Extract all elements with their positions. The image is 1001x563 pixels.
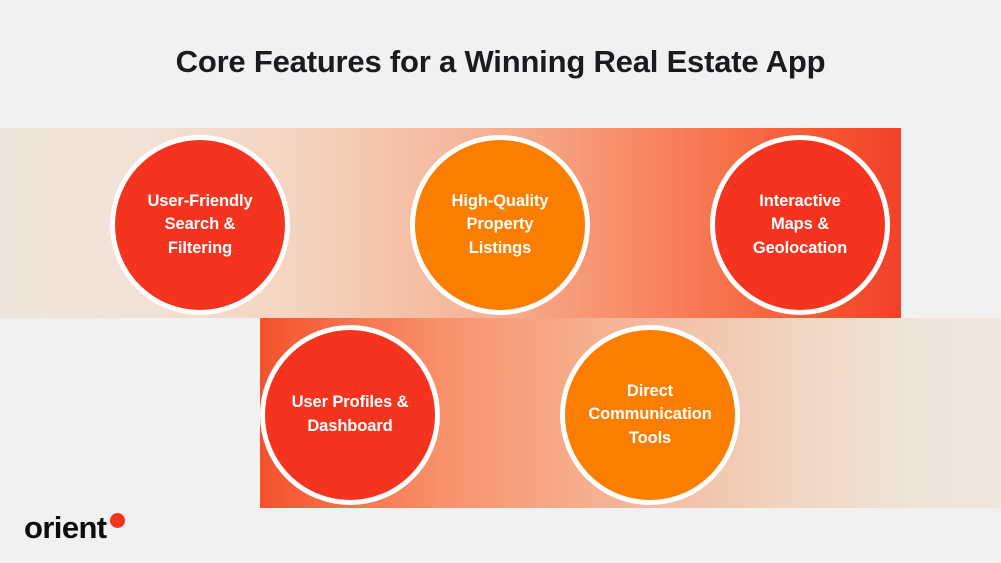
feature-circle-interactive-maps-geolocation[interactable]: Interactive Maps & Geolocation [710, 135, 890, 315]
page-title: Core Features for a Winning Real Estate … [0, 44, 1001, 80]
feature-circle-direct-communication-tools[interactable]: Direct Communication Tools [560, 325, 740, 505]
brand-wordmark: orient [24, 512, 107, 543]
brand-dot-icon [110, 513, 125, 528]
feature-circle-user-profiles-dashboard[interactable]: User Profiles & Dashboard [260, 325, 440, 505]
feature-label: Interactive Maps & Geolocation [743, 190, 857, 261]
feature-label: User Profiles & Dashboard [282, 391, 419, 438]
feature-label: High-Quality Property Listings [442, 190, 559, 261]
feature-circle-user-friendly-search-filtering[interactable]: User-Friendly Search & Filtering [110, 135, 290, 315]
brand-logo[interactable]: orient [24, 512, 125, 543]
infographic-canvas: Core Features for a Winning Real Estate … [0, 0, 1001, 563]
feature-label: User-Friendly Search & Filtering [137, 190, 262, 261]
feature-label: Direct Communication Tools [578, 380, 721, 451]
feature-circle-high-quality-property-listings[interactable]: High-Quality Property Listings [410, 135, 590, 315]
